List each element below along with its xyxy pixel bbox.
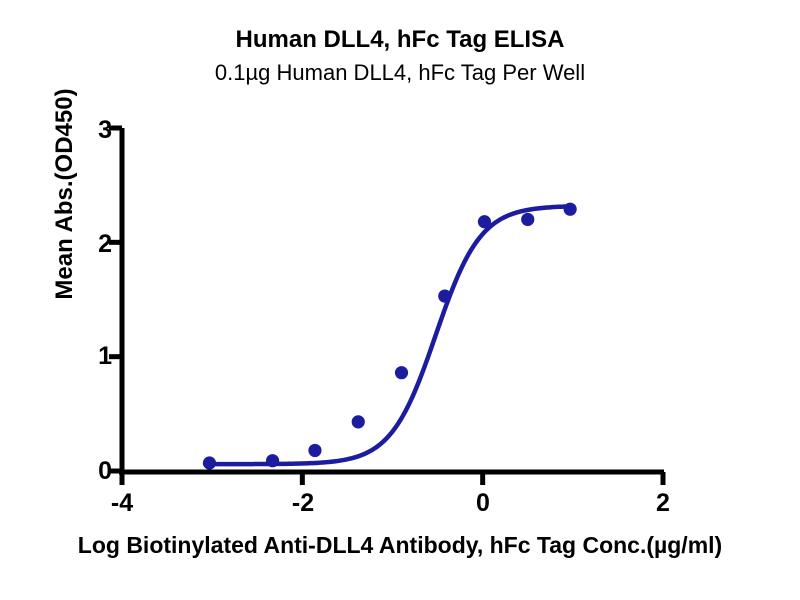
axis-lines bbox=[119, 128, 664, 473]
data-point bbox=[352, 415, 365, 428]
data-point bbox=[266, 454, 279, 467]
data-point bbox=[203, 456, 216, 469]
data-point bbox=[438, 289, 451, 302]
plot-area bbox=[0, 0, 800, 600]
axis-ticks bbox=[109, 128, 663, 485]
data-point bbox=[521, 213, 534, 226]
data-point bbox=[395, 366, 408, 379]
data-point bbox=[564, 203, 577, 216]
data-point bbox=[308, 444, 321, 457]
data-point bbox=[478, 215, 491, 228]
data-point-markers bbox=[203, 203, 577, 470]
chart-figure: Human DLL4, hFc Tag ELISA 0.1µg Human DL… bbox=[0, 0, 800, 600]
fit-curve bbox=[209, 206, 570, 464]
